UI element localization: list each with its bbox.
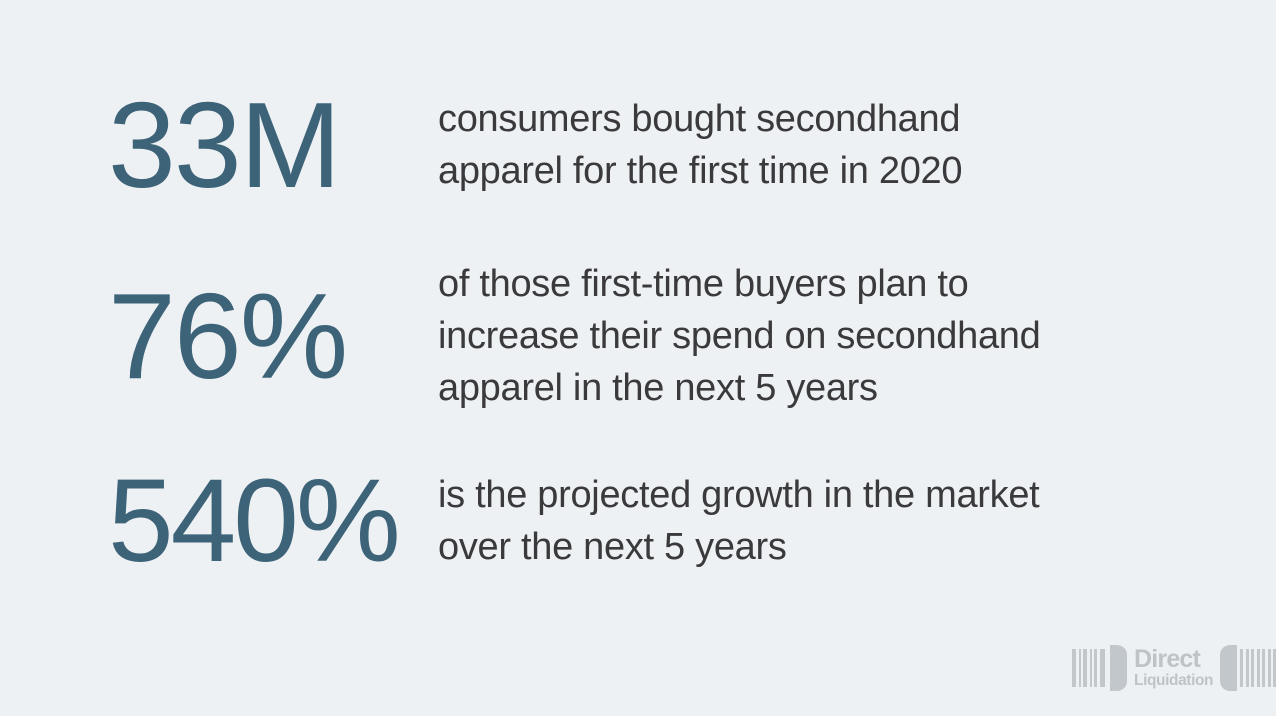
barcode-door-icon-left: [1072, 645, 1127, 691]
barcode-bar: [1083, 649, 1087, 687]
stat-description-line: is the projected growth in the market: [438, 469, 1039, 521]
barcode-bar: [1262, 649, 1265, 687]
stat-description-line: consumers bought secondhand: [438, 93, 962, 145]
barcode-bar: [1240, 649, 1243, 687]
stat-row: 540% is the projected growth in the mark…: [108, 457, 1039, 585]
stat-description-line: apparel for the first time in 2020: [438, 145, 962, 197]
infographic-canvas: 33M consumers bought secondhand apparel …: [0, 0, 1276, 716]
stat-figure: 76%: [108, 275, 438, 397]
barcode-icon: [1240, 649, 1276, 687]
stat-description: is the projected growth in the market ov…: [438, 469, 1039, 573]
stat-figure: 33M: [108, 84, 438, 206]
door-icon: [1110, 645, 1127, 691]
barcode-icon: [1072, 649, 1107, 687]
stat-description-line: over the next 5 years: [438, 521, 1039, 573]
stat-row: 76% of those first-time buyers plan to i…: [108, 248, 1040, 423]
barcode-bar: [1251, 649, 1254, 687]
stat-description-line: of those first-time buyers plan to: [438, 258, 1040, 310]
direct-liquidation-logo: Direct Liquidation: [1072, 642, 1262, 694]
stat-row: 33M consumers bought secondhand apparel …: [108, 86, 962, 204]
barcode-bar: [1079, 649, 1081, 687]
logo-word-sub: Liquidation: [1134, 673, 1213, 689]
barcode-door-icon-right: [1220, 645, 1276, 691]
stat-figure: 540%: [108, 462, 438, 580]
barcode-bar: [1268, 649, 1271, 687]
logo-word-main: Direct: [1134, 647, 1213, 672]
barcode-bar: [1072, 649, 1076, 687]
barcode-bar: [1094, 649, 1097, 687]
barcode-bar: [1246, 649, 1249, 687]
barcode-bar: [1090, 649, 1092, 687]
statistics-list: 33M consumers bought secondhand apparel …: [0, 0, 1276, 716]
barcode-bar: [1100, 649, 1105, 687]
stat-description-line: apparel in the next 5 years: [438, 362, 1040, 414]
logo-wordmark: Direct Liquidation: [1134, 647, 1213, 689]
barcode-bar: [1257, 649, 1260, 687]
stat-description: consumers bought secondhand apparel for …: [438, 93, 962, 197]
stat-description: of those first-time buyers plan to incre…: [438, 258, 1040, 414]
door-icon: [1220, 645, 1237, 691]
stat-description-line: increase their spend on secondhand: [438, 310, 1040, 362]
